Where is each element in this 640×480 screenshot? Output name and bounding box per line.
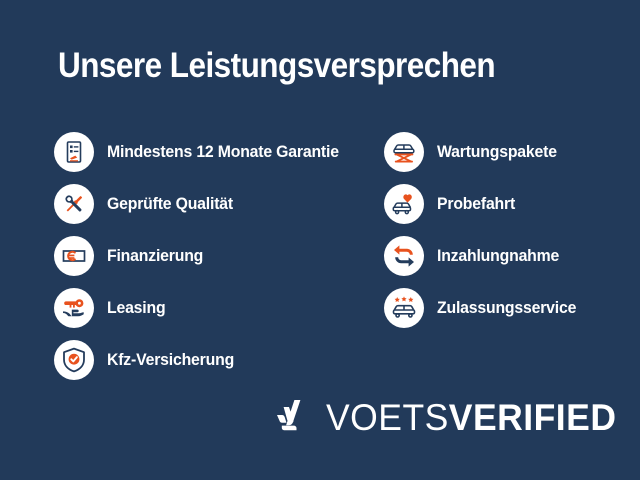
benefit-item: Finanzierung bbox=[54, 230, 384, 282]
benefit-label: Inzahlungnahme bbox=[437, 246, 559, 266]
benefit-item: Kfz-Versicherung bbox=[54, 334, 384, 386]
voets-verified-logo: VOETSVERIFIED bbox=[270, 396, 629, 438]
benefit-label: Mindestens 12 Monate Garantie bbox=[107, 142, 339, 162]
wrench-screwdriver-icon bbox=[54, 184, 94, 224]
benefit-item: Inzahlungnahme bbox=[384, 230, 640, 282]
benefit-item: Leasing bbox=[54, 282, 384, 334]
benefit-label: Geprüfte Qualität bbox=[107, 194, 233, 214]
benefits-column-right: Wartungspakete Probefahrt bbox=[384, 126, 640, 334]
benefit-label: Kfz-Versicherung bbox=[107, 350, 234, 370]
shield-check-icon bbox=[54, 340, 94, 380]
promo-banner: Unsere Leistungsversprechen Mindestens 1… bbox=[0, 0, 640, 480]
car-stars-icon bbox=[384, 288, 424, 328]
car-heart-icon bbox=[384, 184, 424, 224]
benefit-item: Probefahrt bbox=[384, 178, 640, 230]
benefit-label: Finanzierung bbox=[107, 246, 203, 266]
page-title: Unsere Leistungsversprechen bbox=[58, 48, 495, 85]
benefit-item: Wartungspakete bbox=[384, 126, 640, 178]
benefit-label: Leasing bbox=[107, 298, 165, 318]
benefit-label: Wartungspakete bbox=[437, 142, 557, 162]
certificate-pen-icon bbox=[54, 132, 94, 172]
banknote-euro-icon bbox=[54, 236, 94, 276]
benefit-label: Zulassungsservice bbox=[437, 298, 576, 318]
benefits-column-left: Mindestens 12 Monate Garantie Geprüft bbox=[54, 126, 384, 386]
logo-name-light: VOETS bbox=[326, 397, 449, 438]
voets-v-mark-icon bbox=[270, 396, 312, 438]
benefit-item: Mindestens 12 Monate Garantie bbox=[54, 126, 384, 178]
hand-key-icon bbox=[54, 288, 94, 328]
benefit-item: Zulassungsservice bbox=[384, 282, 640, 334]
benefit-label: Probefahrt bbox=[437, 194, 515, 214]
exchange-arrows-icon bbox=[384, 236, 424, 276]
benefit-item: Geprüfte Qualität bbox=[54, 178, 384, 230]
car-lift-icon bbox=[384, 132, 424, 172]
logo-wordmark: VOETSVERIFIED bbox=[326, 399, 616, 436]
logo-name-bold: VERIFIED bbox=[449, 397, 617, 438]
